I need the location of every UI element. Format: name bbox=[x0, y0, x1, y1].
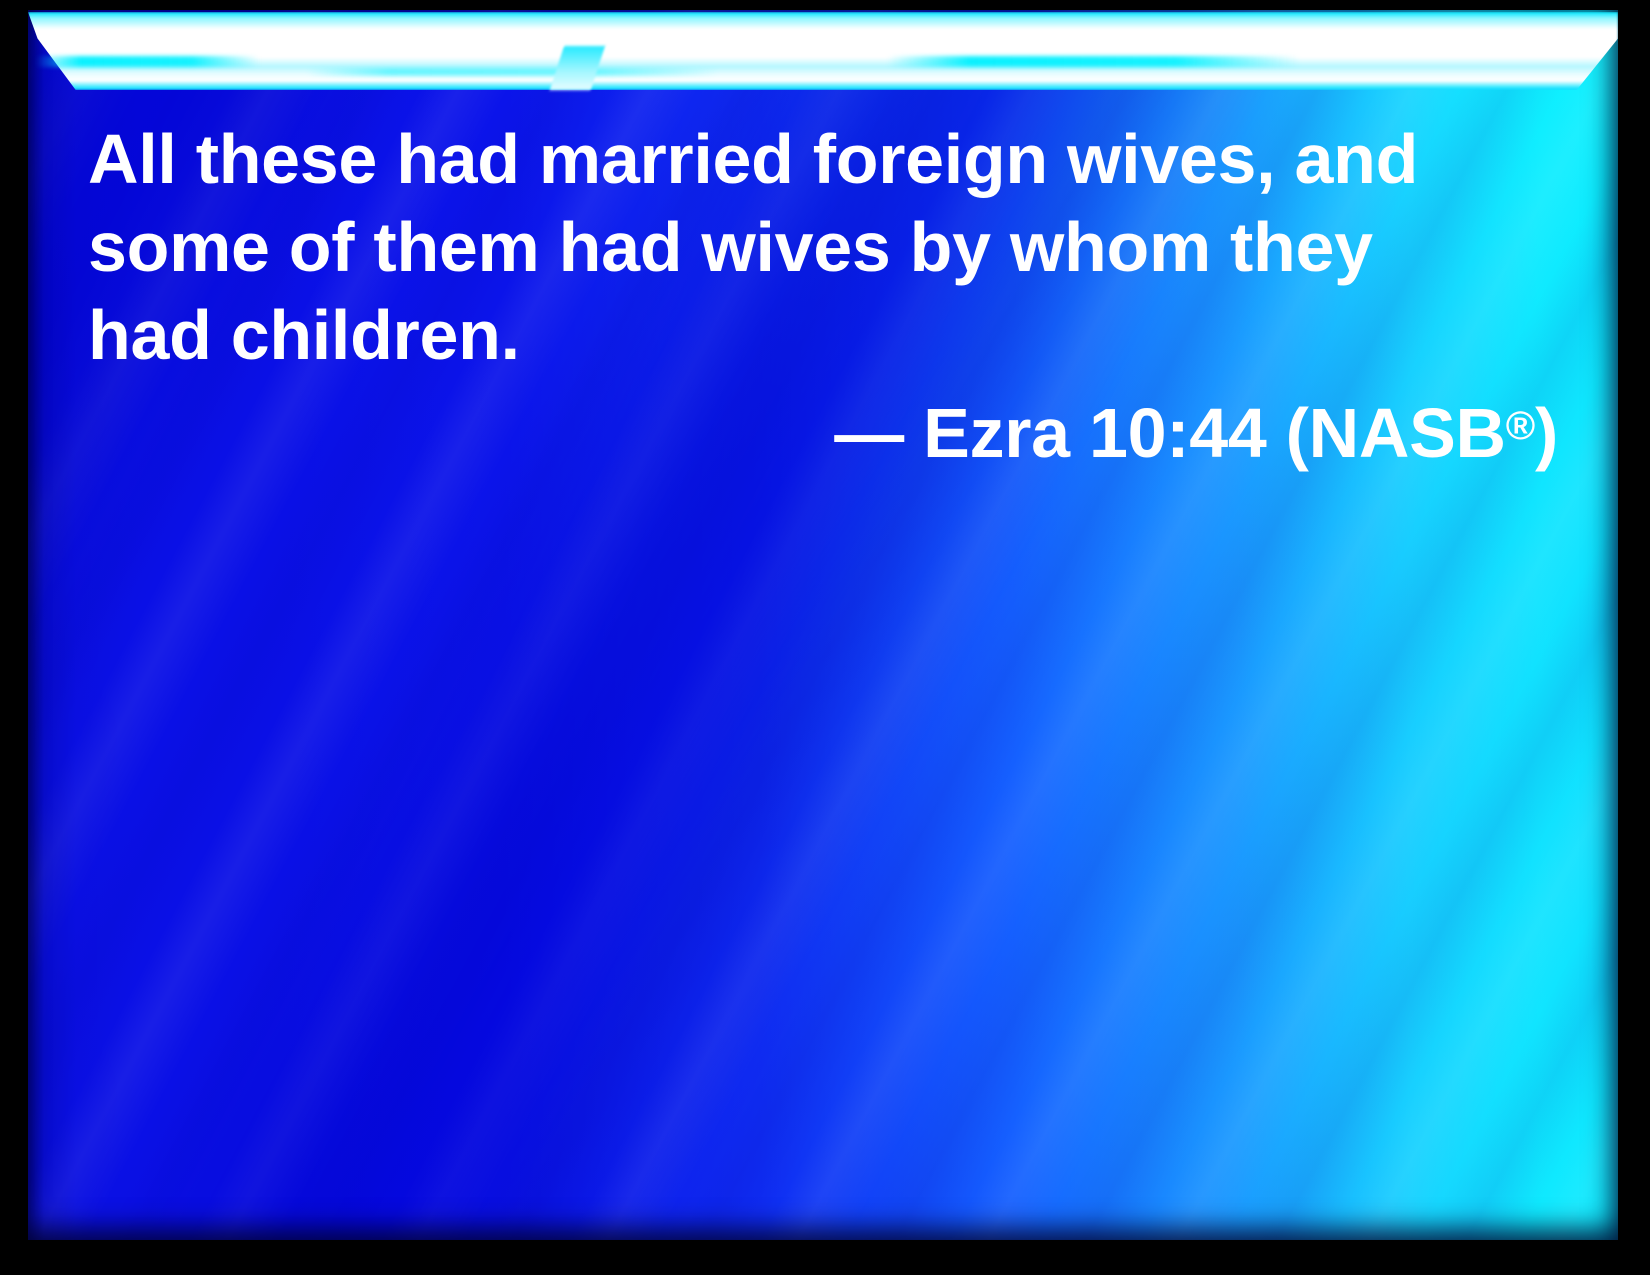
attribution-dash: — bbox=[834, 394, 904, 472]
verse-line-3: had children. bbox=[88, 291, 1558, 379]
registered-trademark-icon: ® bbox=[1506, 404, 1535, 448]
slide-canvas: All these had married foreign wives, and… bbox=[28, 10, 1618, 1240]
verse-text-block: All these had married foreign wives, and… bbox=[88, 115, 1558, 379]
attribution-closing-paren: ) bbox=[1535, 394, 1558, 472]
slide-frame: All these had married foreign wives, and… bbox=[0, 0, 1650, 1275]
verse-attribution: — Ezra 10:44 (NASB®) bbox=[88, 382, 1558, 477]
verse-line-1: All these had married foreign wives, and bbox=[88, 115, 1558, 203]
attribution-reference: Ezra 10:44 (NASB bbox=[923, 394, 1506, 472]
verse-line-2: some of them had wives by whom they bbox=[88, 203, 1558, 291]
attribution-spacer bbox=[904, 394, 923, 472]
